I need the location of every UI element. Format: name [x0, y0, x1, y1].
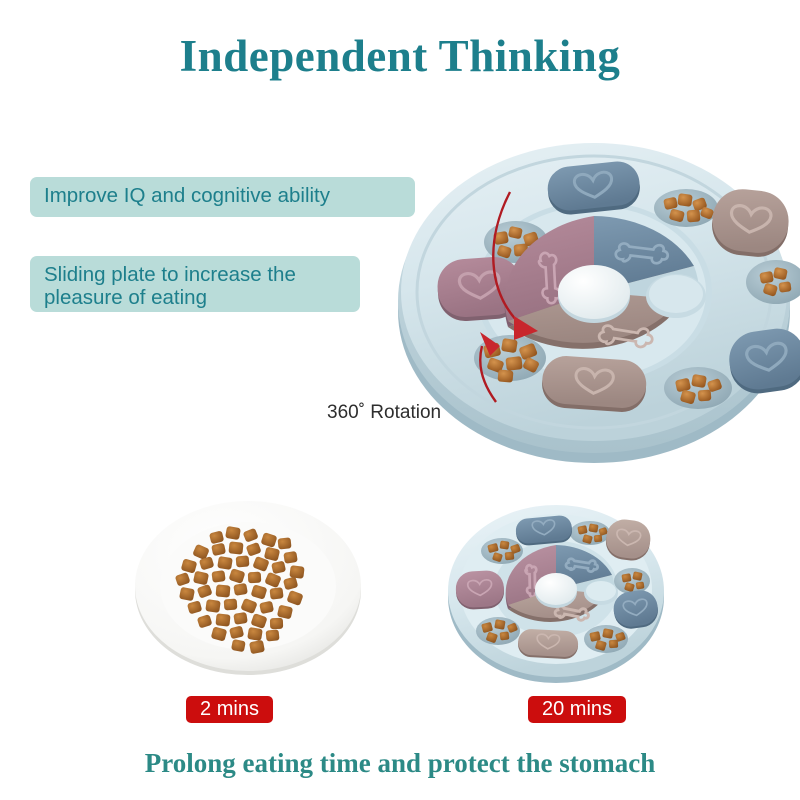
- feature-callout-improve-iq: Improve IQ and cognitive ability: [30, 177, 415, 217]
- badge-2-mins: 2 mins: [186, 696, 273, 723]
- rotation-arrows: [470, 180, 640, 410]
- rotation-caption: 360˚ Rotation: [327, 402, 441, 424]
- bottom-tagline: Prolong eating time and protect the stom…: [0, 748, 800, 779]
- product-marketing-image: Independent Thinking: [0, 0, 800, 800]
- feature-callout-sliding-plate: Sliding plate to increase the pleasure o…: [30, 256, 360, 312]
- plate-of-kibble-image: [132, 494, 364, 680]
- badge-20-mins: 20 mins: [528, 696, 626, 723]
- puzzle-feeder-small-image: [440, 493, 672, 685]
- page-title: Independent Thinking: [0, 30, 800, 82]
